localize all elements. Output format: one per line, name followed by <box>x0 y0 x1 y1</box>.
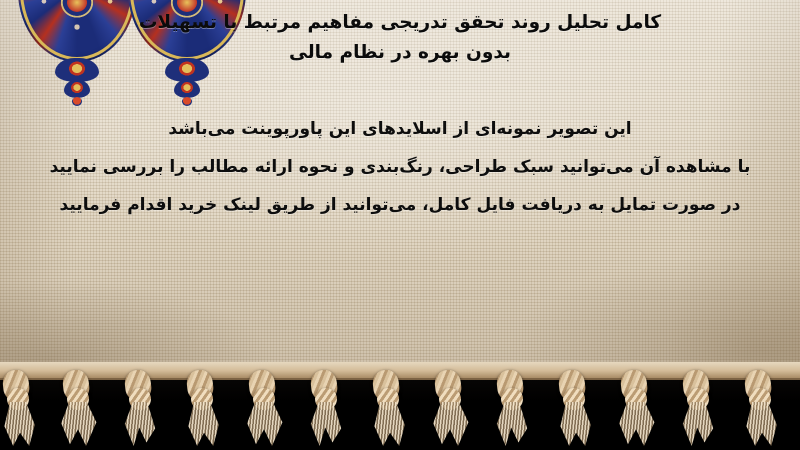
title-line-1: کامل تحلیل روند تحقق تدریجی مفاهیم مرتبط… <box>0 8 800 38</box>
body-line-3: در صورت تمایل به دریافت فایل کامل، می‌تو… <box>0 186 800 224</box>
slide-canvas: کامل تحلیل روند تحقق تدریجی مفاهیم مرتبط… <box>0 0 800 450</box>
slide-title: کامل تحلیل روند تحقق تدریجی مفاهیم مرتبط… <box>0 8 800 68</box>
slide-text-layer: کامل تحلیل روند تحقق تدریجی مفاهیم مرتبط… <box>0 0 800 378</box>
carpet-fringe <box>0 368 800 450</box>
body-line-1: این تصویر نمونه‌ای از اسلایدهای این پاور… <box>0 110 800 148</box>
slide-body: این تصویر نمونه‌ای از اسلایدهای این پاور… <box>0 110 800 224</box>
title-line-2: بدون بهره در نظام مالی <box>0 38 800 68</box>
body-line-2: با مشاهده آن می‌توانید سبک طراحی، رنگ‌بن… <box>0 148 800 186</box>
